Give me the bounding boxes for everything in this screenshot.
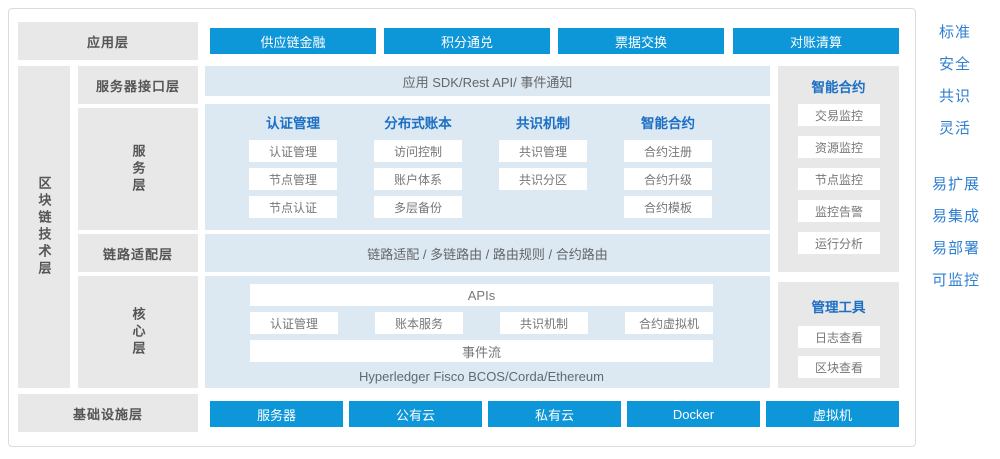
- service-chip-1-2[interactable]: 多层备份: [374, 196, 462, 218]
- side-note-a-0: 标准: [939, 21, 971, 42]
- core-module-0[interactable]: 认证管理: [250, 312, 338, 334]
- service-chip-0-2[interactable]: 节点认证: [249, 196, 337, 218]
- service-column-title-0: 认证管理: [249, 112, 337, 132]
- service-column-title-3: 智能合约: [624, 112, 712, 132]
- service-chip-0-1[interactable]: 节点管理: [249, 168, 337, 190]
- core-module-2[interactable]: 共识机制: [500, 312, 588, 334]
- right-panel-smart-contract-item-3[interactable]: 监控告警: [798, 200, 880, 222]
- layer-label-infrastructure: 基础设施层: [18, 394, 198, 432]
- service-chip-1-0[interactable]: 访问控制: [374, 140, 462, 162]
- side-note-a-1: 安全: [939, 53, 971, 74]
- service-column-title-1: 分布式账本: [374, 112, 462, 132]
- link-adapter-content: 链路适配 / 多链路由 / 路由规则 / 合约路由: [205, 234, 770, 272]
- core-event-row[interactable]: 事件流: [250, 340, 713, 362]
- core-module-3[interactable]: 合约虚拟机: [625, 312, 713, 334]
- layer-label-service: 服务层: [78, 108, 198, 230]
- architecture-diagram: 应用层 供应链金融 积分通兑 票据交换 对账清算 区块链技术层 服务器接口层 应…: [0, 0, 1000, 459]
- side-note-a-3: 灵活: [939, 117, 971, 138]
- right-panel-management-tools-item-1[interactable]: 区块查看: [798, 356, 880, 378]
- service-chip-2-1[interactable]: 共识分区: [499, 168, 587, 190]
- core-platforms: Hyperledger Fisco BCOS/Corda/Ethereum: [250, 366, 713, 386]
- server-interface-content: 应用 SDK/Rest API/ 事件通知: [205, 66, 770, 96]
- app-item-3[interactable]: 对账清算: [733, 28, 899, 54]
- right-panel-management-tools-title: 管理工具: [778, 296, 899, 316]
- right-panel-smart-contract-item-0[interactable]: 交易监控: [798, 104, 880, 126]
- service-chip-0-0[interactable]: 认证管理: [249, 140, 337, 162]
- service-chip-2-0[interactable]: 共识管理: [499, 140, 587, 162]
- side-note-b-0: 易扩展: [932, 173, 980, 194]
- layer-label-application: 应用层: [18, 22, 198, 60]
- side-note-b-3: 可监控: [932, 269, 980, 290]
- infra-item-0[interactable]: 服务器: [210, 401, 343, 427]
- layer-label-core: 核心层: [78, 276, 198, 388]
- side-note-b-1: 易集成: [932, 205, 980, 226]
- right-panel-smart-contract-item-4[interactable]: 运行分析: [798, 232, 880, 254]
- app-item-1[interactable]: 积分通兑: [384, 28, 550, 54]
- infra-item-4[interactable]: 虚拟机: [766, 401, 899, 427]
- layer-label-link-adapter: 链路适配层: [78, 234, 198, 272]
- service-chip-3-2[interactable]: 合约模板: [624, 196, 712, 218]
- infra-item-3[interactable]: Docker: [627, 401, 760, 427]
- service-layer-label: 服务层: [132, 144, 145, 195]
- side-note-b-2: 易部署: [932, 237, 980, 258]
- core-apis-row[interactable]: APIs: [250, 284, 713, 306]
- right-panel-smart-contract-item-2[interactable]: 节点监控: [798, 168, 880, 190]
- layer-label-server-interface: 服务器接口层: [78, 66, 198, 104]
- service-chip-3-0[interactable]: 合约注册: [624, 140, 712, 162]
- infra-item-1[interactable]: 公有云: [349, 401, 482, 427]
- spine-label: 区块链技术层: [38, 176, 51, 278]
- service-column-title-2: 共识机制: [499, 112, 587, 132]
- core-layer-label: 核心层: [132, 307, 145, 358]
- right-panel-smart-contract-title: 智能合约: [778, 76, 899, 96]
- side-note-a-2: 共识: [939, 85, 971, 106]
- app-item-2[interactable]: 票据交换: [558, 28, 724, 54]
- core-module-1[interactable]: 账本服务: [375, 312, 463, 334]
- right-panel-smart-contract-item-1[interactable]: 资源监控: [798, 136, 880, 158]
- service-chip-1-1[interactable]: 账户体系: [374, 168, 462, 190]
- infra-item-2[interactable]: 私有云: [488, 401, 621, 427]
- service-chip-3-1[interactable]: 合约升级: [624, 168, 712, 190]
- app-item-0[interactable]: 供应链金融: [210, 28, 376, 54]
- right-panel-management-tools-item-0[interactable]: 日志查看: [798, 326, 880, 348]
- spine-blockchain-tech-layer: 区块链技术层: [18, 66, 70, 388]
